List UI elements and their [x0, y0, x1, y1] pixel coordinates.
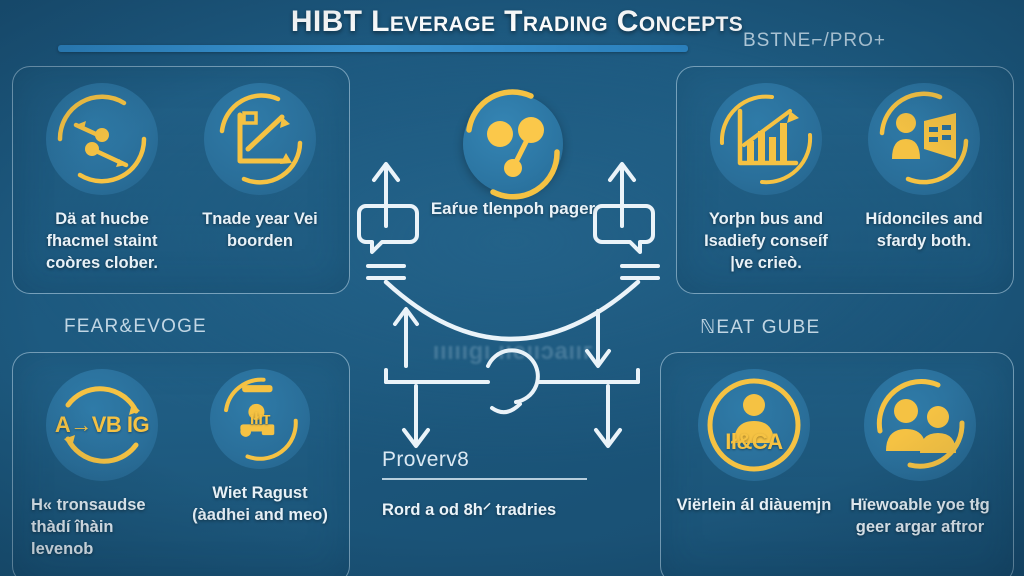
- center-footer: Proverv8 Rord a od 8h⸍ tradrieѕ: [382, 448, 652, 520]
- brand-tag: BSTNE⌐/PRO+: [743, 30, 886, 52]
- panel-cell[interactable]: Hïewoable yoe tłg geer argar aftror: [837, 369, 1003, 576]
- circular-arrows-icon: A→VB IG: [46, 369, 158, 481]
- icon-label: A→VB IG: [55, 412, 149, 438]
- cell-caption: Viërlein ál diàuemjn: [677, 495, 832, 517]
- center-caption: Eaŕue tlenpoh pager: [360, 198, 666, 220]
- panel-cell[interactable]: Hídonciles and sfardy both.: [845, 83, 1003, 289]
- single-user-icon: Ił&CA: [698, 369, 810, 481]
- cell-caption: Hídonciles and sfardy both.: [849, 209, 999, 253]
- cell-caption: Yorþn bus and Isadiefy conseíf |ve crieò…: [691, 209, 841, 274]
- gear-tools-icon: ıłıт: [210, 369, 310, 469]
- panel-top-right: Yorþn bus and Isadiefy conseíf |ve crieò…: [676, 66, 1014, 294]
- ghost-watermark-text: ıııııɡı ııеııɔаııг: [378, 338, 648, 366]
- cell-caption: Dä at hucbe fhacmel staint coòres clober…: [27, 209, 177, 274]
- footer-title: Proverv8: [382, 448, 652, 472]
- icon-label: Ił&CA: [725, 429, 782, 455]
- bar-chart-growth-icon: [710, 83, 822, 195]
- icon-label: ıłıт: [250, 409, 271, 429]
- person-presentation-icon: [868, 83, 980, 195]
- panel-cell[interactable]: Tnade year Vei boorden: [181, 83, 339, 289]
- panel-cell[interactable]: Yorþn bus and Isadiefy conseíf |ve crieò…: [687, 83, 845, 289]
- cell-caption: H« tronsaudse thàdí îhàin levenob: [27, 495, 177, 560]
- cell-caption: Hïewoable yoe tłg geer argar aftror: [841, 495, 999, 539]
- panel-cell[interactable]: A→VB IG H« tronsaudse thàdí îhàin leveno…: [23, 369, 181, 576]
- panel-bottom-left: A→VB IG H« tronsaudse thàdí îhàin leveno…: [12, 352, 350, 576]
- header: HIBT Leverage Trading Concepts BSTNE⌐/PR…: [0, 0, 1024, 62]
- chart-arrow-icon: [204, 83, 316, 195]
- panel-cell[interactable]: Dä at hucbe fhacmel staint coòres clober…: [23, 83, 181, 289]
- bidirectional-arrows-icon: [46, 83, 158, 195]
- panel-cell[interactable]: ıłıт Wiet Ragust (àadhei and meo): [181, 369, 339, 576]
- cell-caption: Wiet Ragust (àadhei and meo): [185, 483, 335, 527]
- two-users-icon: [864, 369, 976, 481]
- section-label-left: FEAR&EVOGE: [64, 316, 207, 338]
- panel-top-left: Dä at hucbe fhacmel staint coòres clober…: [12, 66, 350, 294]
- footer-subtitle: Rord a od 8h⸍ tradrieѕ: [382, 497, 652, 520]
- center-diagram: Eaŕue tlenpoh pager ıııııɡı ııеııɔаııг P…: [360, 66, 666, 576]
- title-accent-bar: [58, 45, 688, 52]
- panel-cell[interactable]: Ił&CA Viërlein ál diàuemjn: [671, 369, 837, 576]
- panel-bottom-right: Ił&CA Viërlein ál diàuemjn Hïewoable yoe…: [660, 352, 1014, 576]
- footer-divider: [382, 478, 587, 480]
- section-label-right: ℕEAT GUBE: [700, 316, 820, 339]
- cell-caption: Tnade year Vei boorden: [185, 209, 335, 253]
